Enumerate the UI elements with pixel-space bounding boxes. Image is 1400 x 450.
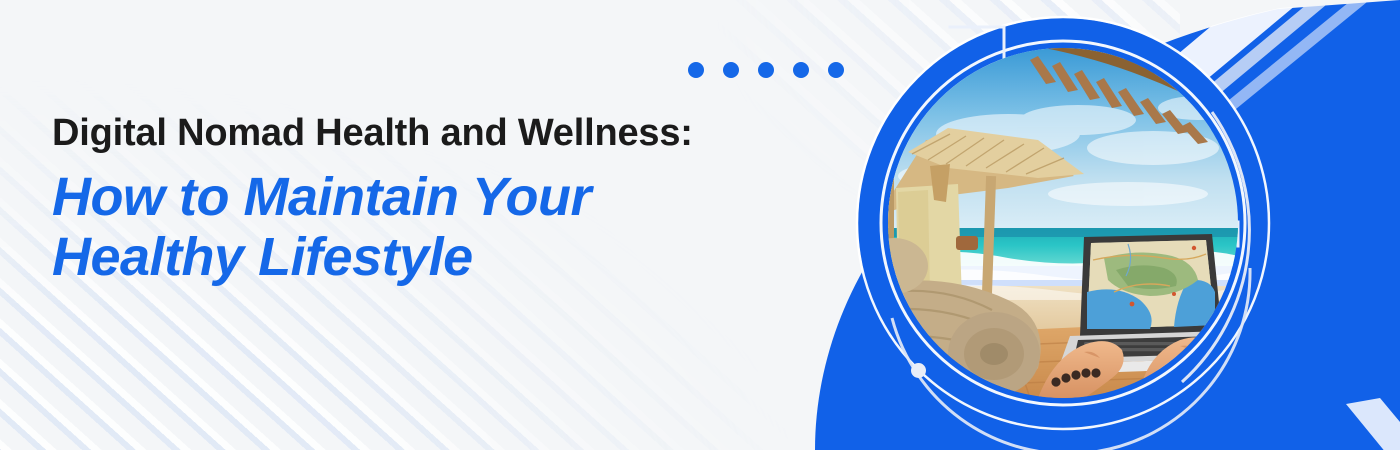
headline-line-1: Digital Nomad Health and Wellness: [52, 112, 832, 155]
dot-icon-1 [688, 62, 704, 78]
dot-icon-3 [758, 62, 774, 78]
hero-photo-circle [888, 48, 1238, 398]
laptop-map-screen [1087, 240, 1215, 329]
headline-line-2: How to Maintain Your [52, 167, 832, 227]
dot-icon-2 [723, 62, 739, 78]
banner-hero: Digital Nomad Health and Wellness: How t… [0, 0, 1400, 450]
headline-line-3: Healthy Lifestyle [52, 227, 832, 287]
arc-marker-dot [911, 363, 926, 378]
hero-photo [888, 48, 1238, 398]
headline-block: Digital Nomad Health and Wellness: How t… [52, 112, 832, 287]
